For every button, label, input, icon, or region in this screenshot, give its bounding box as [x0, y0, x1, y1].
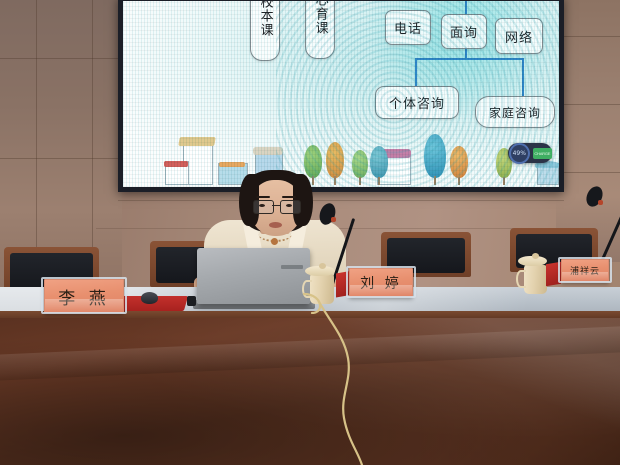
computer-mouse[interactable] [141, 292, 158, 304]
battery-charge-badge: 49% CHARGE [508, 143, 552, 163]
eyeglasses-left-lens [253, 200, 274, 214]
conference-room-photo: 校本课 心育课 电话 面询 网络 干预 转介 个体咨询 家庭咨询 [0, 0, 620, 465]
laptop[interactable] [197, 248, 310, 304]
cable-connector [302, 292, 342, 314]
screen-scanlines [123, 1, 559, 187]
charging-icon: CHARGE [533, 148, 552, 159]
table-front-panel [0, 318, 620, 465]
laptop-logo [281, 265, 303, 269]
desk-item-dark [187, 296, 196, 306]
battery-percent-ring: 49% [509, 143, 530, 164]
nameplate-right: 浦祥云 [561, 259, 609, 282]
right-wall-panel [556, 0, 620, 262]
nameplate-left: 李 燕 [44, 279, 124, 313]
led-display-screen: 校本课 心育课 电话 面询 网络 干预 转介 个体咨询 家庭咨询 [118, 0, 564, 192]
nameplate-middle: 刘 婷 [349, 268, 413, 297]
eyeglasses-right-lens [280, 200, 301, 214]
